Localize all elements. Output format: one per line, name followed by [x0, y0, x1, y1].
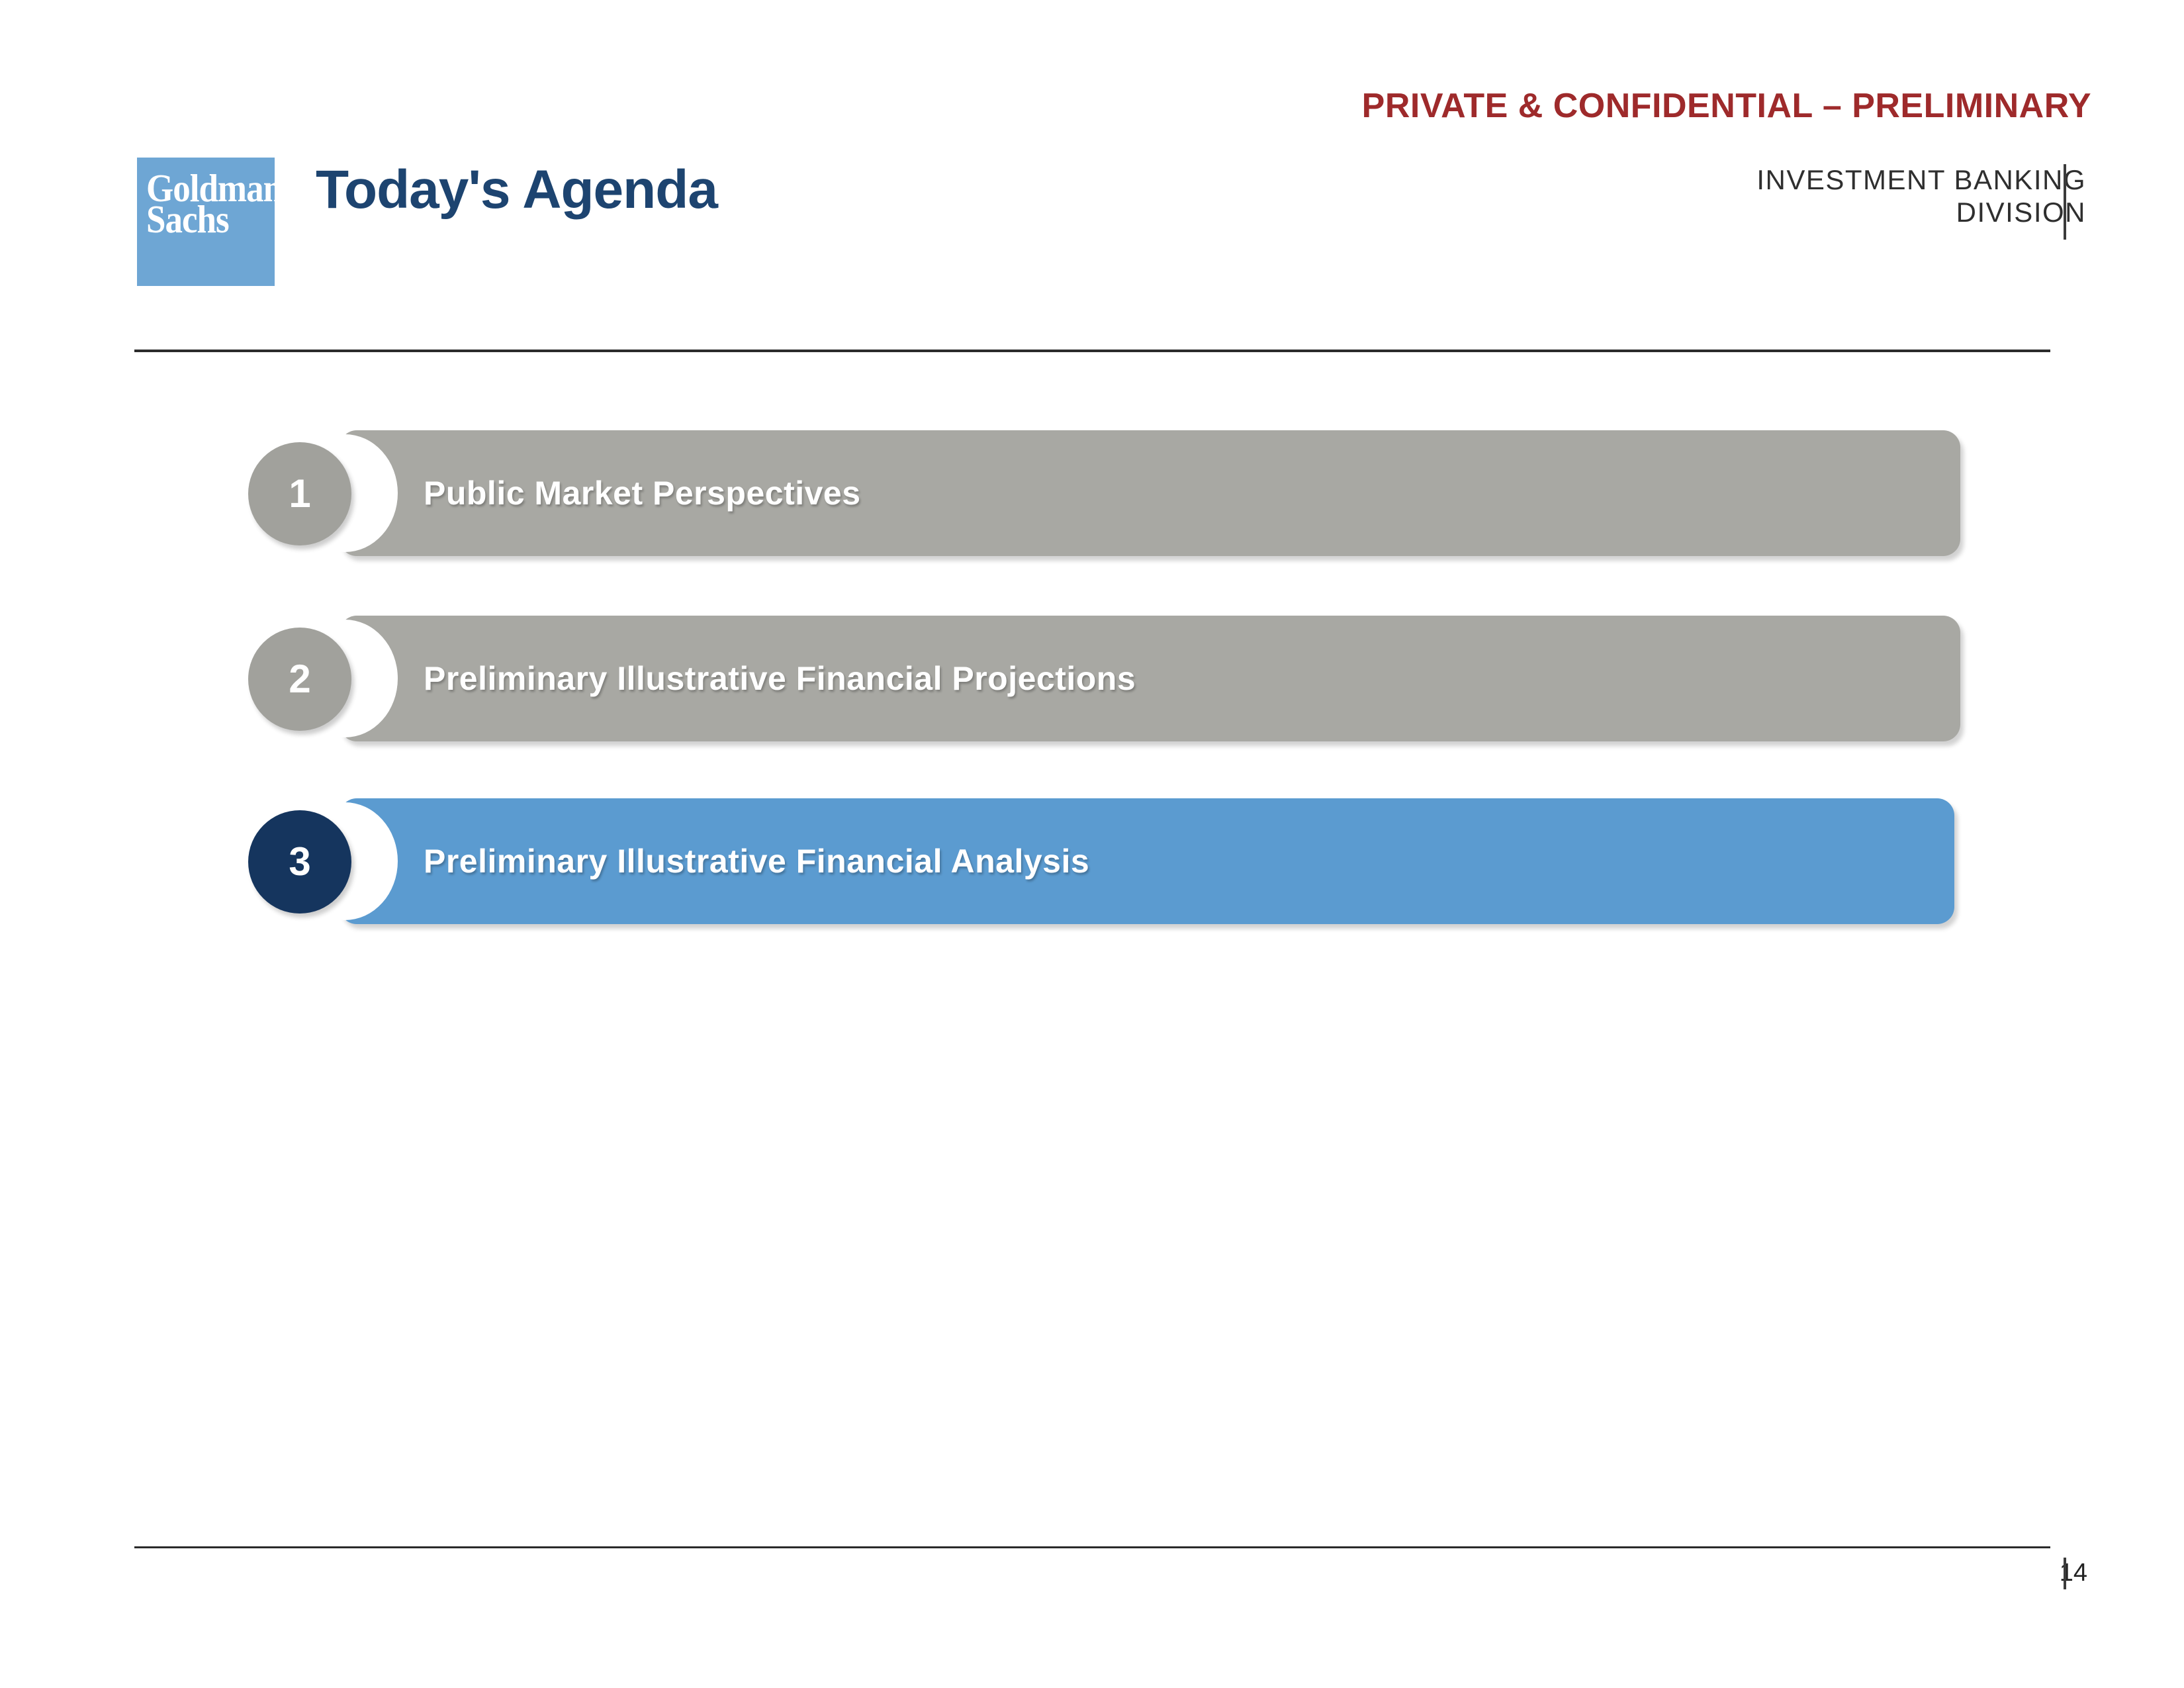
agenda-number-2: 2 [289, 659, 310, 699]
confidential-banner: PRIVATE & CONFIDENTIAL – PRELIMINARY [1362, 86, 2091, 126]
agenda-label-3: Preliminary Illustrative Financial Analy… [424, 842, 1089, 880]
division-line-2: DIVISION [1756, 197, 2086, 229]
agenda-number-badge-3: 3 [248, 810, 351, 914]
agenda-label-2: Preliminary Illustrative Financial Proje… [424, 659, 1136, 698]
slide-canvas: Goldman Sachs Today's Agenda PRIVATE & C… [0, 0, 2184, 1688]
footer-divider [134, 1546, 2050, 1548]
division-label: INVESTMENT BANKING DIVISION [1756, 164, 2086, 228]
goldman-sachs-logo: Goldman Sachs [137, 158, 275, 286]
logo-line-2: Sachs [137, 202, 275, 238]
page-number-vertical-rule [2064, 1558, 2066, 1589]
agenda-number-1: 1 [289, 474, 310, 514]
agenda-number-badge-1: 1 [248, 442, 351, 545]
agenda-number-badge-2: 2 [248, 628, 351, 731]
header-divider [134, 350, 2050, 352]
division-line-1: INVESTMENT BANKING [1756, 164, 2086, 197]
agenda-label-1: Public Market Perspectives [424, 474, 861, 512]
division-vertical-rule [2064, 164, 2066, 240]
page-title: Today's Agenda [316, 159, 717, 221]
agenda-number-3: 3 [289, 842, 310, 882]
